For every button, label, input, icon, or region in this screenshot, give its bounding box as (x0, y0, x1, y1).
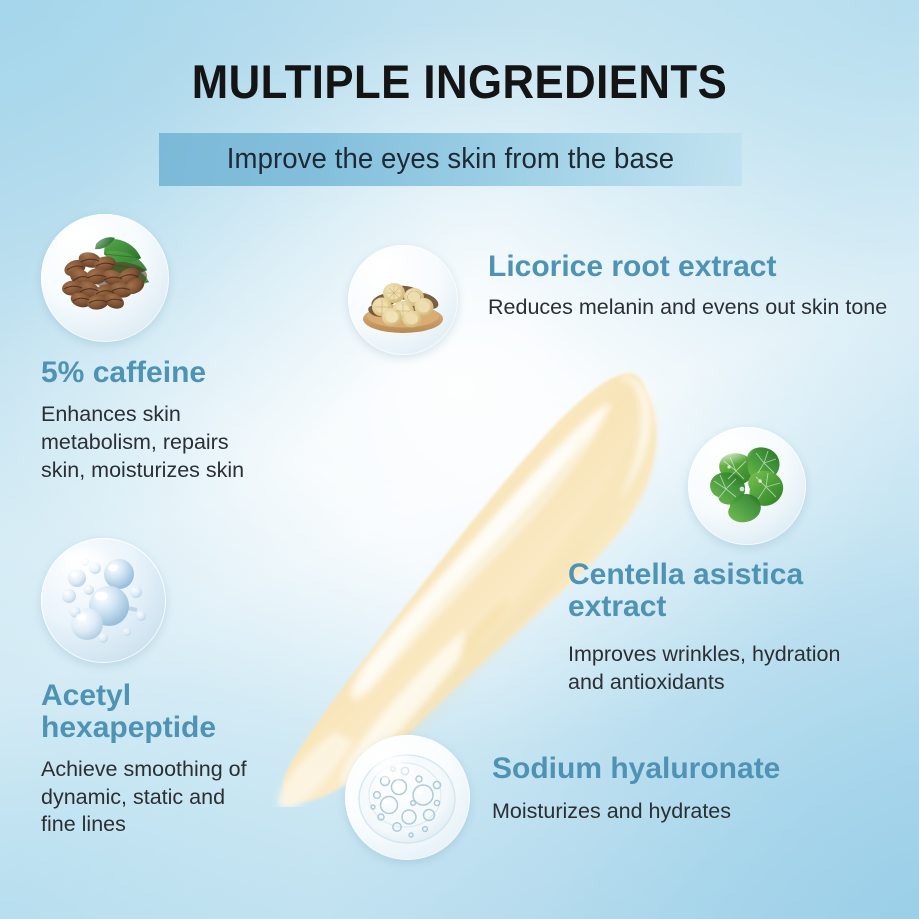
ingredient-caffeine: 5% caffeine Enhances skin metabolism, re… (41, 214, 311, 485)
ingredient-description: Achieve smoothing of dynamic, static and… (41, 756, 256, 840)
ingredient-title: Sodium hyaluronate (492, 753, 780, 785)
header: MULTIPLE INGREDIENTS (0, 58, 919, 105)
page-title: MULTIPLE INGREDIENTS (32, 58, 887, 105)
subtitle-text: Improve the eyes skin from the base (227, 143, 674, 176)
centella-leaves-icon (688, 427, 806, 545)
ingredients-infographic: MULTIPLE INGREDIENTS Improve the eyes sk… (0, 0, 919, 919)
ingredient-centella: Centella asistica extract Improves wrink… (568, 427, 898, 696)
ingredient-licorice: Licorice root extract Reduces melanin an… (348, 245, 908, 355)
ingredient-title: 5% caffeine (41, 357, 311, 389)
licorice-root-slices-icon (348, 245, 458, 355)
ingredient-acetyl-hexapeptide: Acetyl hexapeptide Achieve smoothing of … (41, 538, 301, 839)
water-gel-droplets-icon (345, 735, 470, 860)
ingredient-description: Enhances skin metabolism, repairs skin, … (41, 401, 276, 485)
ingredient-title: Licorice root extract (488, 251, 887, 283)
coffee-beans-icon (41, 214, 169, 342)
ingredient-description: Moisturizes and hydrates (492, 798, 780, 826)
molecule-bubbles-icon (41, 538, 166, 663)
ingredient-title: Acetyl hexapeptide (41, 680, 301, 744)
subtitle-banner: Improve the eyes skin from the base (159, 133, 742, 186)
ingredient-title: Centella asistica extract (568, 559, 898, 623)
ingredient-description: Improves wrinkles, hydration and antioxi… (568, 641, 868, 697)
ingredient-sodium-hyaluronate: Sodium hyaluronate Moisturizes and hydra… (345, 735, 885, 860)
ingredient-description: Reduces melanin and evens out skin tone (488, 294, 887, 322)
